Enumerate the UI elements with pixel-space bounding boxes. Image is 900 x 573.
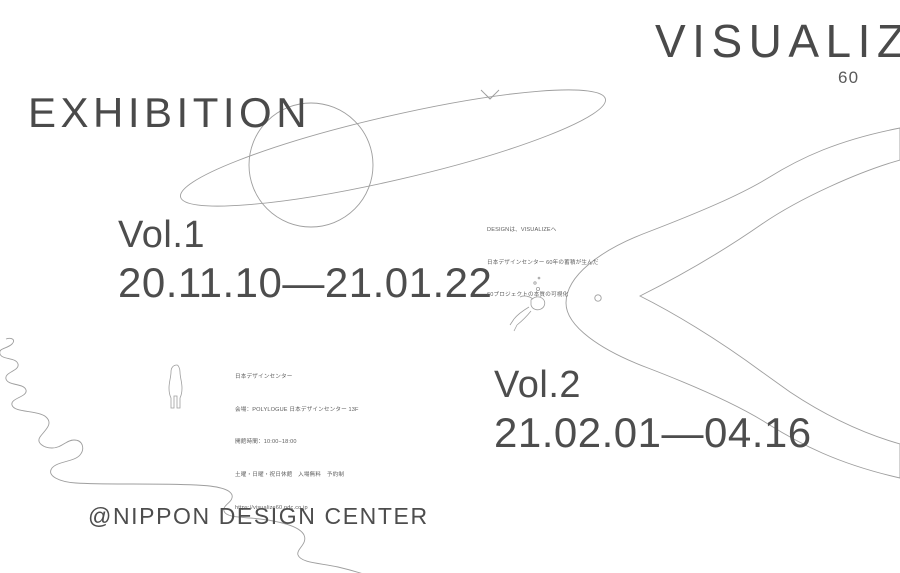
volume-1-dates: 20.11.10—21.01.22: [118, 262, 492, 304]
river-contour-icon: [0, 338, 445, 573]
statement-line: DESIGNは、VISUALIZEへ: [487, 225, 599, 236]
info-organizer: 日本デザインセンター: [235, 372, 359, 383]
volume-2-dates: 21.02.01—04.16: [494, 412, 812, 454]
exhibition-poster: VISUALIZE 60 EXHIBITION Vol.1 20.11.10—2…: [0, 0, 900, 573]
bird-icon: [481, 90, 499, 99]
exhibition-heading: EXHIBITION: [28, 92, 311, 134]
concept-statement: DESIGNは、VISUALIZEへ 日本デザインセンター 60年の蓄積が生んだ…: [487, 203, 599, 323]
human-figure-icon: [169, 365, 182, 408]
anniversary-number: 60: [838, 68, 859, 88]
info-closed-admission: 土曜・日曜・祝日休館 入場無料 予約制: [235, 470, 359, 481]
footer-venue: @NIPPON DESIGN CENTER: [88, 505, 429, 528]
info-hours: 開館時間：10:00−18:00: [235, 437, 359, 448]
statement-line: 日本デザインセンター 60年の蓄積が生んだ: [487, 258, 599, 269]
page-title: VISUALIZE: [655, 18, 900, 64]
statement-line: 60プロジェクトの本質の可視化: [487, 290, 599, 301]
volume-1-label: Vol.1: [118, 216, 205, 254]
volume-2-label: Vol.2: [494, 366, 581, 404]
info-venue: 会場：POLYLOGUE 日本デザインセンター 13F: [235, 405, 359, 416]
